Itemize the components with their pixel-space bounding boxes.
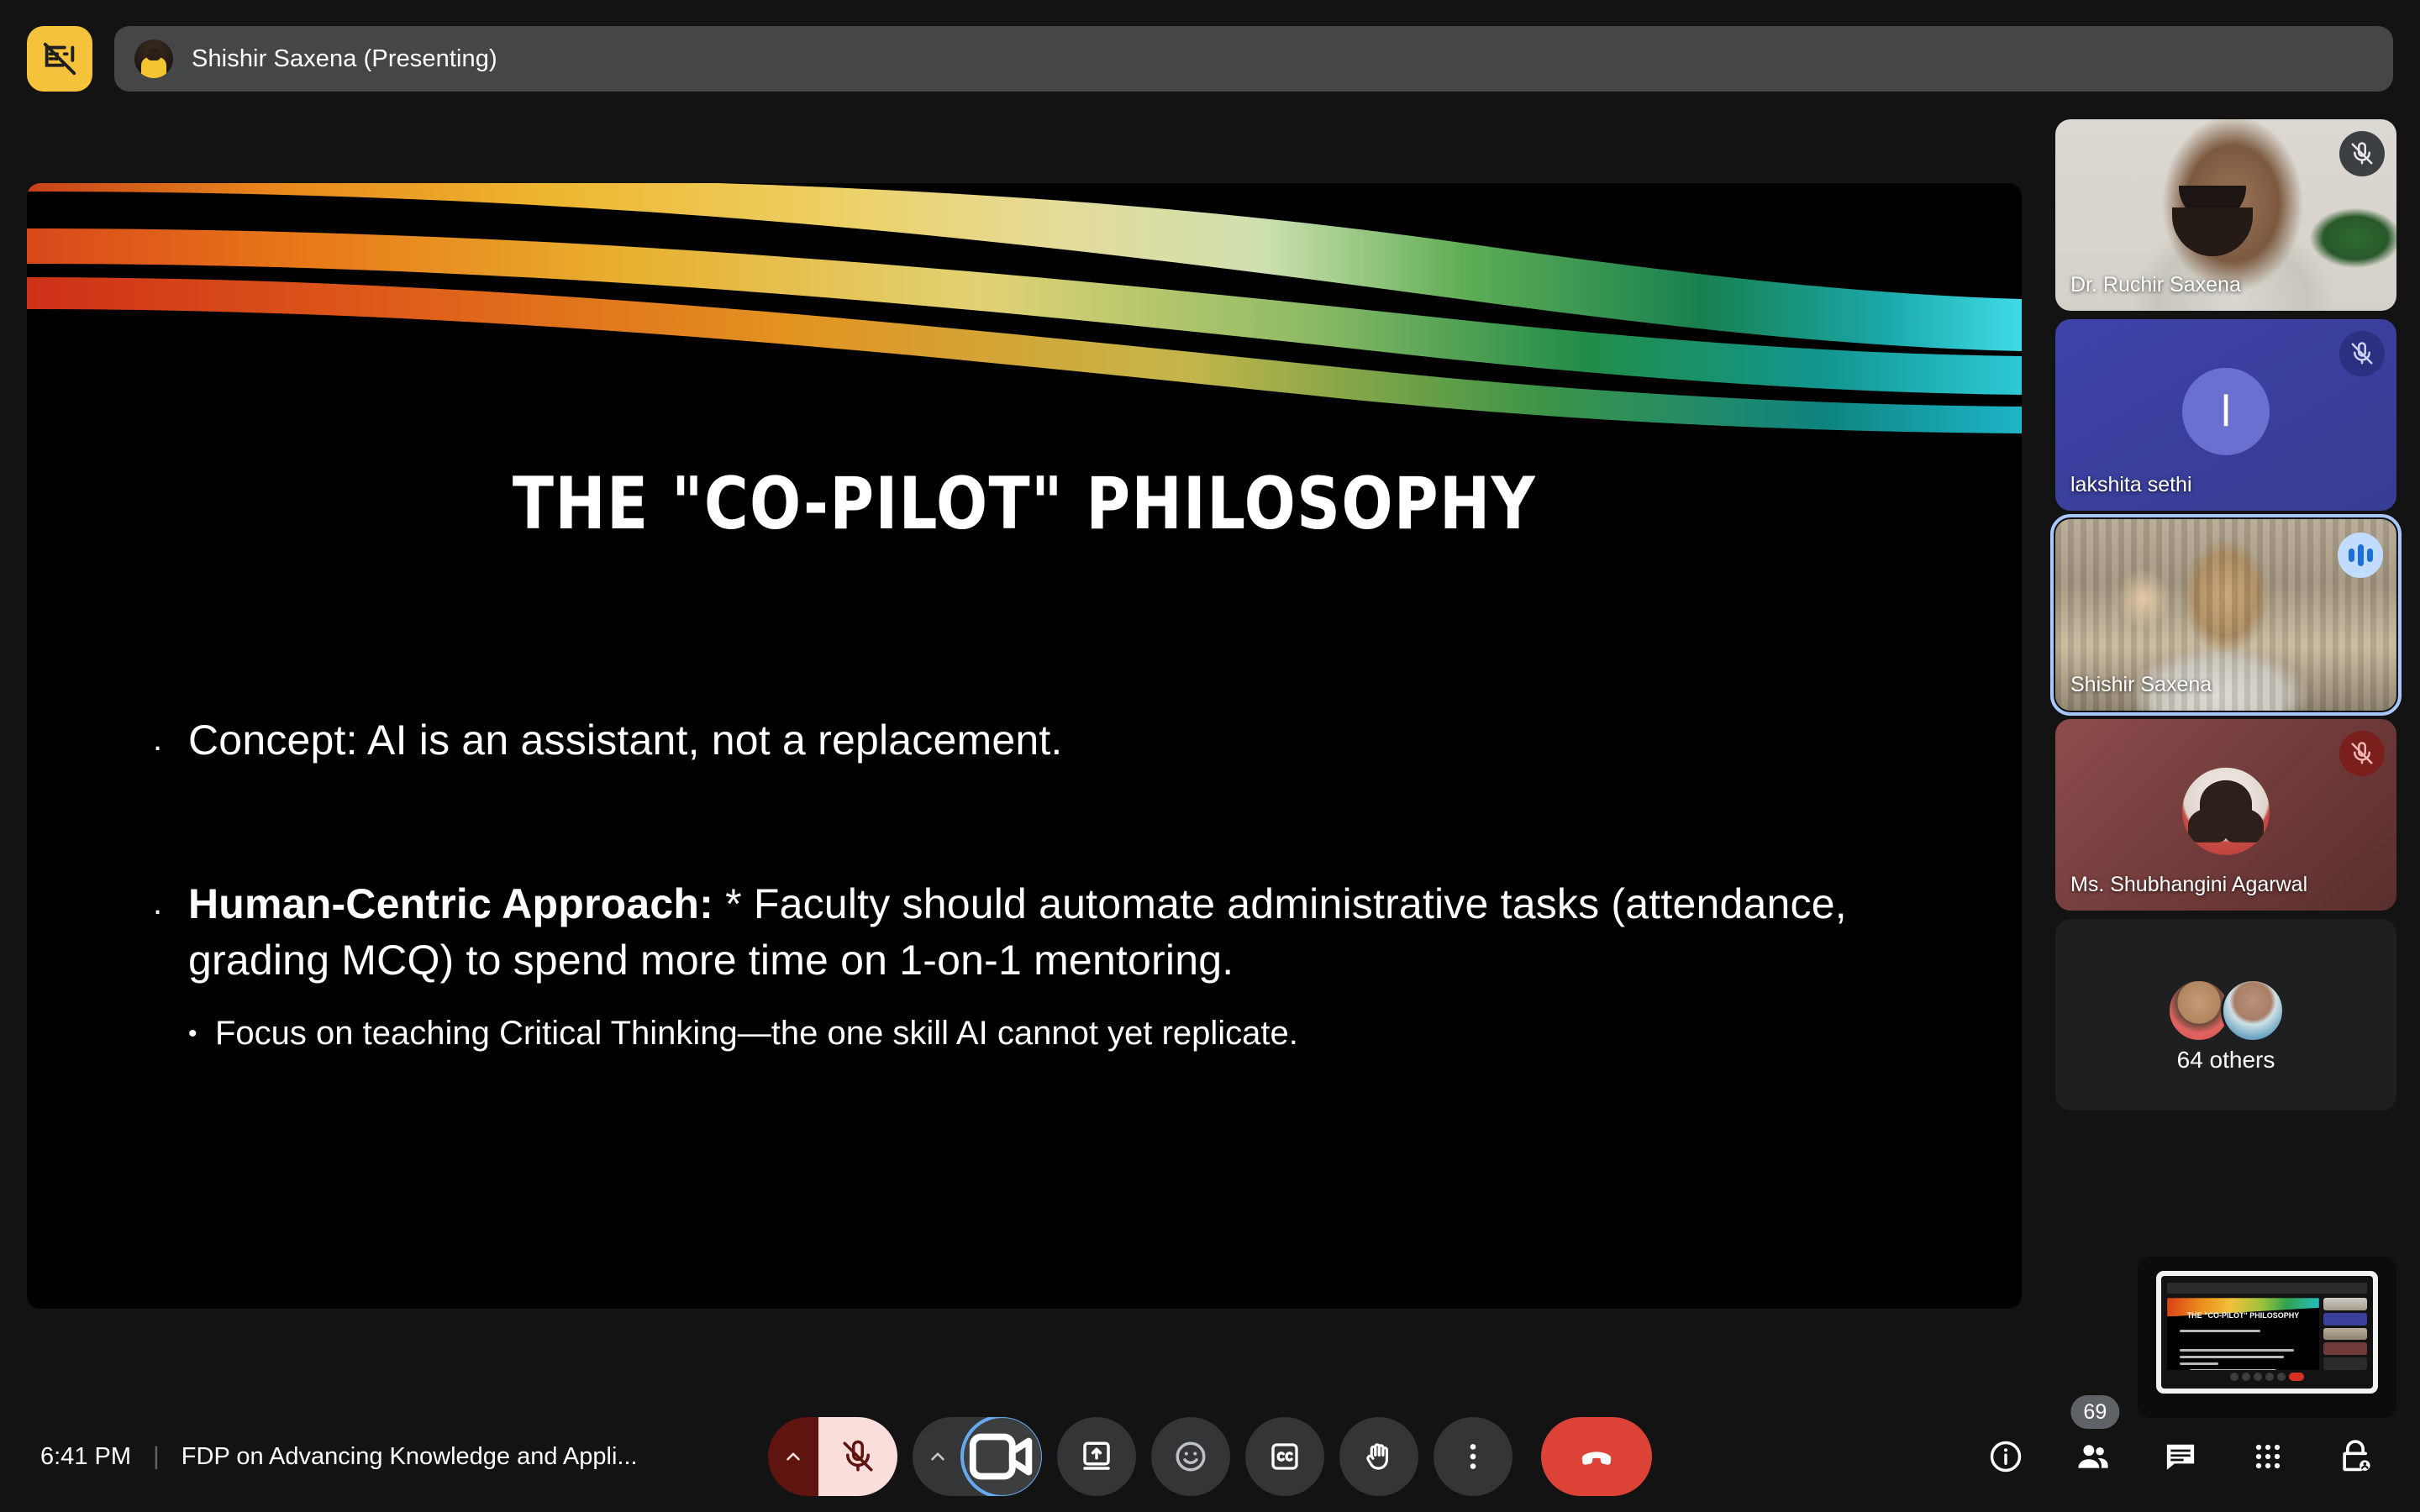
more-vertical-icon[interactable] — [1434, 1417, 1512, 1496]
self-view-topbar — [2167, 1283, 2367, 1294]
closed-captions-icon[interactable] — [1245, 1417, 1324, 1496]
slide-decorative-swoosh — [27, 183, 2022, 460]
avatar — [2221, 979, 2285, 1042]
participant-name: Shishir Saxena — [2070, 673, 2212, 697]
mic-off-icon — [2339, 131, 2385, 176]
shared-screen-stage[interactable]: THE "CO-PILOT" PHILOSOPHY . Concept: AI … — [27, 183, 2022, 1309]
people-icon[interactable]: 69 — [2069, 1432, 2117, 1481]
participant-strip: Dr. Ruchir Saxena l lakshita sethi Shish… — [2055, 119, 2396, 1110]
host-lock-icon[interactable] — [2331, 1432, 2380, 1481]
present-screen-icon[interactable] — [1057, 1417, 1136, 1496]
mic-toggle-button[interactable] — [818, 1417, 897, 1496]
slide-body: . Concept: AI is an assistant, not a rep… — [153, 712, 1946, 1058]
slide-sub-bullet-text: Focus on teaching Critical Thinking—the … — [215, 1011, 1298, 1056]
emoji-smile-icon[interactable] — [1151, 1417, 1230, 1496]
bullet-marker-icon: . — [153, 712, 161, 766]
presenter-pill[interactable]: Shishir Saxena (Presenting) — [114, 26, 2393, 92]
avatar — [2182, 768, 2270, 855]
speaking-bar — [2349, 549, 2354, 562]
self-view-tile[interactable]: THE "CO-PILOT" PHILOSOPHY — [2138, 1257, 2396, 1418]
info-circle-icon[interactable] — [1981, 1432, 2030, 1481]
top-bar: Shishir Saxena (Presenting) — [0, 0, 2420, 118]
speaking-bar — [2367, 549, 2373, 562]
bullet-spacer — [153, 769, 1946, 876]
participant-tile-lakshita-sethi[interactable]: l lakshita sethi — [2055, 319, 2396, 511]
self-view-slide-lines — [2180, 1330, 2310, 1370]
slide-bullet-2-lead: Human-Centric Approach: — [188, 880, 713, 927]
speaking-bar — [2358, 544, 2364, 566]
more-participants-tile[interactable]: 64 others — [2055, 919, 2396, 1110]
right-controls: 69 — [1981, 1432, 2380, 1481]
camera-toggle-button[interactable] — [963, 1417, 1042, 1496]
slide-title: THE "CO-PILOT" PHILOSOPHY — [97, 462, 1952, 546]
end-call-icon[interactable] — [1541, 1417, 1652, 1496]
slide-bullet-1-text: Concept: AI is an assistant, not a repla… — [188, 712, 1063, 769]
bullet-marker-icon: . — [153, 876, 161, 930]
call-controls — [768, 1417, 1652, 1496]
bottom-bar: 6:41 PM | FDP on Advancing Knowledge and… — [0, 1401, 2420, 1512]
avatar-letter: l — [2182, 368, 2270, 455]
meeting-info: 6:41 PM | FDP on Advancing Knowledge and… — [40, 1442, 638, 1471]
self-view-screen: THE "CO-PILOT" PHILOSOPHY — [2161, 1276, 2374, 1389]
mic-control-group — [768, 1417, 897, 1496]
self-view-slide: THE "CO-PILOT" PHILOSOPHY — [2167, 1298, 2319, 1369]
chevron-up-icon[interactable] — [768, 1417, 818, 1496]
presentation-off-icon[interactable] — [27, 26, 92, 92]
self-view-laptop: THE "CO-PILOT" PHILOSOPHY — [2156, 1271, 2379, 1394]
participant-tile-dr-ruchir-saxena[interactable]: Dr. Ruchir Saxena — [2055, 119, 2396, 311]
slide-bullet-2-text: Human-Centric Approach: * Faculty should… — [188, 876, 1946, 989]
mic-off-icon — [2339, 331, 2385, 376]
participant-tile-shishir-saxena[interactable]: Shishir Saxena — [2055, 519, 2396, 711]
others-count-label: 64 others — [2055, 1047, 2396, 1074]
sub-bullet-marker-icon: • — [188, 1011, 197, 1058]
raised-hand-icon[interactable] — [1339, 1417, 1418, 1496]
self-view-slide-title: THE "CO-PILOT" PHILOSOPHY — [2167, 1311, 2319, 1320]
meeting-title: FDP on Advancing Knowledge and Appli... — [181, 1443, 638, 1471]
speaking-bars-icon — [2338, 533, 2383, 578]
chat-bubble-icon[interactable] — [2156, 1432, 2205, 1481]
mic-off-icon — [2339, 731, 2385, 776]
presenter-name: Shishir Saxena (Presenting) — [192, 45, 497, 73]
participant-name: lakshita sethi — [2070, 473, 2192, 497]
participant-tile-ms-shubhangini-agarwal[interactable]: Ms. Shubhangini Agarwal — [2055, 719, 2396, 911]
slide-sub-bullet: • Focus on teaching Critical Thinking—th… — [188, 1011, 1946, 1058]
self-view-main: THE "CO-PILOT" PHILOSOPHY — [2167, 1298, 2367, 1369]
slide-bullet-2: . Human-Centric Approach: * Faculty shou… — [153, 876, 1946, 989]
camera-control-group — [913, 1417, 1042, 1496]
separator: | — [153, 1442, 160, 1471]
others-avatar-stack — [2167, 979, 2285, 1042]
self-view-controls — [2161, 1370, 2374, 1384]
activities-grid-icon[interactable] — [2244, 1432, 2292, 1481]
self-view-strip — [2323, 1298, 2367, 1369]
participant-name: Dr. Ruchir Saxena — [2070, 273, 2241, 297]
slide-bullet-1: . Concept: AI is an assistant, not a rep… — [153, 712, 1946, 769]
chevron-up-icon[interactable] — [913, 1417, 963, 1496]
current-time: 6:41 PM — [40, 1443, 131, 1471]
people-count-badge: 69 — [2070, 1395, 2119, 1429]
presenter-avatar — [134, 39, 173, 78]
participant-name: Ms. Shubhangini Agarwal — [2070, 873, 2307, 897]
